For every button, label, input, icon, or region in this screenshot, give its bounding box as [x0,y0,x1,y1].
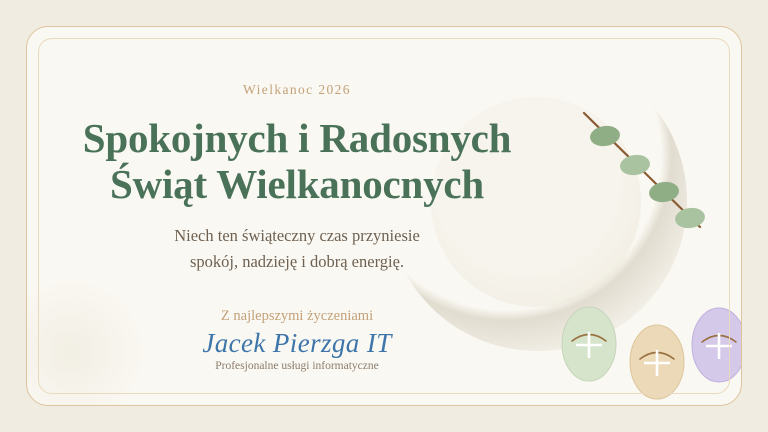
signature-tagline: Profesjonalne usługi informatyczne [27,360,567,372]
signature-name: Jacek Pierzga IT [27,328,567,359]
card-subtitle: Niech ten świąteczny czas przyniesie spo… [27,223,567,274]
easter-egg-purple [690,306,742,389]
card-subtitle-line-1: Niech ten świąteczny czas przyniesie [27,223,567,249]
branch-leaf [648,180,680,204]
card-subtitle-line-2: spokój, nadzieję i dobrą energię. [27,249,567,275]
willow-branch-icon [572,105,712,235]
easter-egg-green [560,305,618,388]
branch-leaf [674,206,706,230]
card-frame-outer: Wielkanoc 2026 Spokojnych i Radosnych Św… [26,26,742,406]
card-headline-line-1: Spokojnych i Radosnych [27,115,567,161]
easter-egg-tan [628,323,686,406]
easter-greeting-card: Wielkanoc 2026 Spokojnych i Radosnych Św… [0,0,768,432]
card-headline: Spokojnych i Radosnych Świąt Wielkanocny… [27,115,567,208]
card-eyebrow-label: Wielkanoc 2026 [27,82,567,98]
signature-wishes-text: Z najlepszymi życzeniami [27,308,567,325]
card-headline-line-2: Świąt Wielkanocnych [27,161,567,207]
